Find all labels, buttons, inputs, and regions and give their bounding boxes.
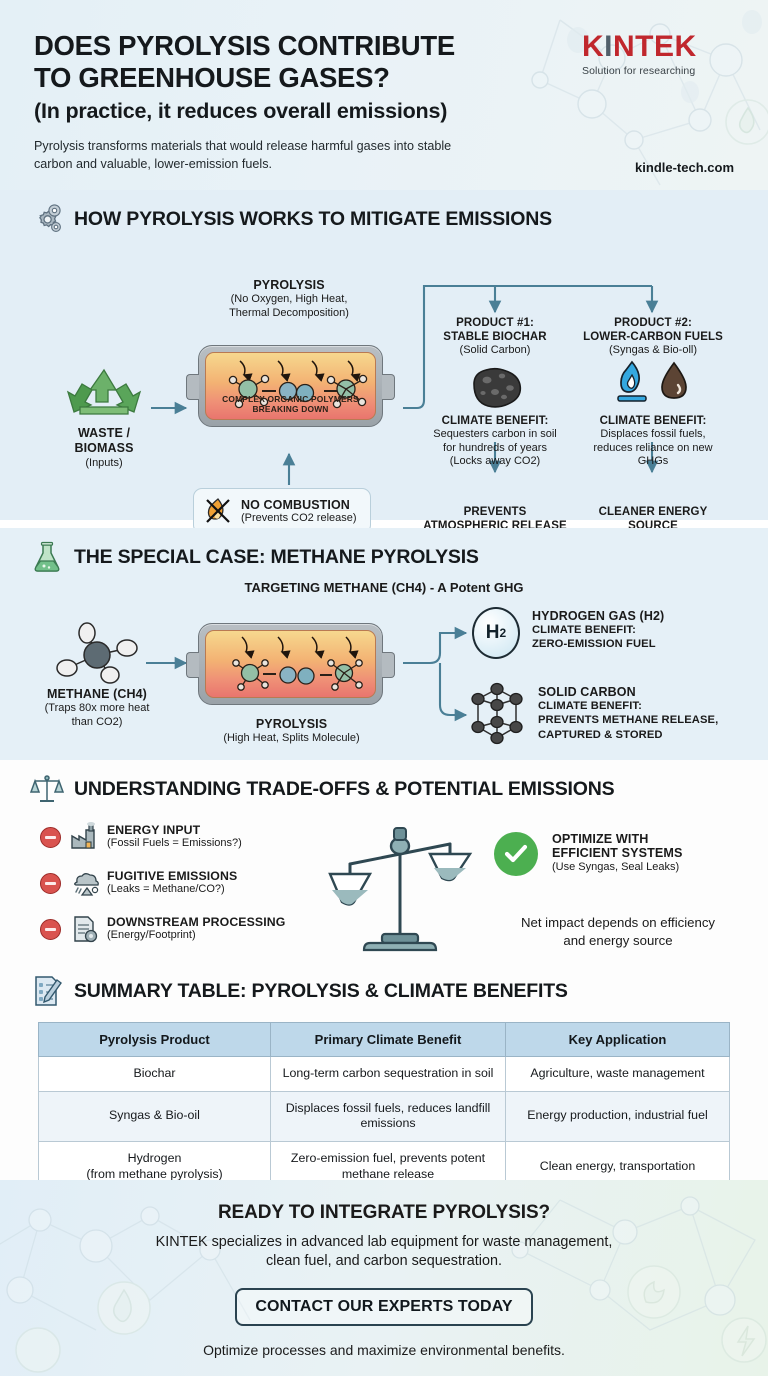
methane-reactor-inlet <box>186 652 199 678</box>
methane-sub-1: (Traps 80x more heat <box>42 702 152 716</box>
cell-application: Energy production, industrial fuel <box>506 1091 730 1141</box>
summary-table: Pyrolysis Product Primary Climate Benefi… <box>38 1022 730 1192</box>
scales-icon <box>30 772 64 806</box>
product-2-benefit-1: Displaces fossil fuels, <box>571 428 735 442</box>
footer-body: KINTEK specializes in advanced lab equip… <box>0 1233 768 1272</box>
logo-wordmark: KINTEK <box>582 32 734 62</box>
methane-label: METHANE (CH4) <box>42 687 152 702</box>
section2-title: THE SPECIAL CASE: METHANE PYROLYSIS <box>74 546 479 569</box>
no-combustion-sub: (Prevents CO2 release) <box>241 512 357 524</box>
table-row: Biochar Long-term carbon sequestration i… <box>39 1057 730 1092</box>
page-subtitle: (In practice, it reduces overall emissio… <box>34 99 734 124</box>
logo-letter-i: I <box>604 30 613 63</box>
section3-title: UNDERSTANDING TRADE-OFFS & POTENTIAL EMI… <box>74 778 614 801</box>
factory-icon <box>69 822 99 852</box>
tradeoff-3-title: DOWNSTREAM PROCESSING <box>107 915 285 929</box>
gears-icon <box>30 202 64 236</box>
process-title: PYROLYSIS <box>194 278 384 293</box>
section4-header: SUMMARY TABLE: PYROLYSIS & CLIMATE BENEF… <box>0 968 768 1012</box>
table-header-product: Pyrolysis Product <box>39 1023 271 1057</box>
minus-badge-icon <box>40 827 61 848</box>
section-how-pyrolysis-works: HOW PYROLYSIS WORKS TO MITIGATE EMISSION… <box>0 190 768 520</box>
balance-scale-icon <box>330 816 470 966</box>
tradeoff-2-sub: (Leaks = Methane/CO?) <box>107 883 237 896</box>
infographic-page: DOES PYROLYSIS CONTRIBUTE TO GREENHOUSE … <box>0 0 768 1376</box>
product-1-benefit-3: (Locks away CO2) <box>414 455 576 469</box>
reactor-inlet-nozzle <box>186 374 199 400</box>
cell-product: Syngas & Bio-oil <box>39 1091 271 1141</box>
solid-carbon-title: SOLID CARBON <box>538 685 718 699</box>
flask-icon <box>30 540 64 574</box>
product-2-sub: (Syngas & Bio-oll) <box>571 344 735 358</box>
section3-content: ENERGY INPUT (Fossil Fuels = Emissions?)… <box>0 810 768 975</box>
product-1-benefit-2: for hundreds of years <box>414 442 576 456</box>
pyrolysis-reactor: COMPLEX ORGANIC POLYMERS BREAKING DOWN <box>198 345 383 427</box>
solid-carbon-benefit-2: CAPTURED & STORED <box>538 728 718 742</box>
hero-header: DOES PYROLYSIS CONTRIBUTE TO GREENHOUSE … <box>0 0 768 190</box>
product-1-tag: PRODUCT #1: <box>414 316 576 330</box>
table-header-benefit: Primary Climate Benefit <box>271 1023 506 1057</box>
input-sublabel: (Inputs) <box>58 457 150 471</box>
reactor-chamber: COMPLEX ORGANIC POLYMERS BREAKING DOWN <box>205 352 376 420</box>
methane-process-title: PYROLYSIS <box>194 717 389 732</box>
net-impact-line-1: Net impact depends on efficiency <box>478 914 758 932</box>
product-2-block: PRODUCT #2: LOWER-CARBON FUELS (Syngas &… <box>571 316 735 533</box>
biochar-lump-icon <box>464 362 526 410</box>
optimize-sub: (Use Syngas, Seal Leaks) <box>552 861 682 874</box>
hydrogen-title: HYDROGEN GAS (H2) <box>532 609 664 623</box>
section4-title: SUMMARY TABLE: PYROLYSIS & CLIMATE BENEF… <box>74 980 568 1003</box>
product-2-outcome-1: CLEANER ENERGY <box>571 505 735 519</box>
optimize-title-2: EFFICIENT SYSTEMS <box>552 846 682 860</box>
cell-benefit: Long-term carbon sequestration in soil <box>271 1057 506 1092</box>
product-1-outcome-1: PREVENTS <box>414 505 576 519</box>
check-glyph-icon <box>503 841 529 867</box>
reactor-outlet-nozzle <box>382 374 395 400</box>
product-2-benefit-title: CLIMATE BENEFIT: <box>571 414 735 428</box>
balance-scale-illustration <box>330 816 470 966</box>
oil-droplet-icon <box>657 360 691 410</box>
tradeoff-1-sub: (Fossil Fuels = Emissions?) <box>107 837 242 850</box>
optimize-title-1: OPTIMIZE WITH <box>552 832 682 846</box>
footer-body-line-2: clean fuel, and carbon sequestration. <box>266 1253 502 1269</box>
methane-reactor-outlet <box>382 652 395 678</box>
tradeoff-2-title: FUGITIVE EMISSIONS <box>107 869 237 883</box>
net-impact-line-2: and energy source <box>478 932 758 950</box>
carbon-lattice-icon <box>468 683 526 745</box>
hydrogen-benefit-label: CLIMATE BENEFIT: <box>532 623 664 637</box>
section1-diagram: WASTE / BIOMASS (Inputs) PYROLYSIS (No O… <box>0 240 768 526</box>
section-tradeoffs: UNDERSTANDING TRADE-OFFS & POTENTIAL EMI… <box>0 760 768 968</box>
section2-header: THE SPECIAL CASE: METHANE PYROLYSIS <box>0 528 768 578</box>
reactor-label-line1: COMPLEX ORGANIC POLYMERS <box>222 394 359 404</box>
footer-cta-section: READY TO INTEGRATE PYROLYSIS? KINTEK spe… <box>0 1180 768 1376</box>
footer-closing-note: Optimize processes and maximize environm… <box>0 1342 768 1358</box>
reactor-label-line2: BREAKING DOWN <box>252 404 328 414</box>
methane-process-sub: (High Heat, Splits Molecule) <box>194 732 389 746</box>
minus-badge-icon <box>40 919 61 940</box>
net-impact-note: Net impact depends on efficiency and ene… <box>478 914 758 950</box>
section3-header: UNDERSTANDING TRADE-OFFS & POTENTIAL EMI… <box>0 760 768 810</box>
product-1-name: STABLE BIOCHAR <box>414 330 576 344</box>
cell-benefit: Displaces fossil fuels, reduces landfill… <box>271 1091 506 1141</box>
cell-product: Biochar <box>39 1057 271 1092</box>
tradeoff-energy-input: ENERGY INPUT (Fossil Fuels = Emissions?) <box>40 822 340 852</box>
solid-carbon-output: SOLID CARBON CLIMATE BENEFIT: PREVENTS M… <box>468 683 718 745</box>
optimize-callout: OPTIMIZE WITH EFFICIENT SYSTEMS (Use Syn… <box>494 832 682 876</box>
minus-badge-icon <box>40 873 61 894</box>
green-check-icon <box>494 832 538 876</box>
table-header-application: Key Application <box>506 1023 730 1057</box>
product-2-benefit-2: reduces reliance on new <box>571 442 735 456</box>
waste-biomass-input: WASTE / BIOMASS (Inputs) <box>58 364 150 470</box>
footer-body-line-1: KINTEK specializes in advanced lab equip… <box>156 1234 613 1250</box>
section-methane-pyrolysis: THE SPECIAL CASE: METHANE PYROLYSIS TARG… <box>0 528 768 760</box>
kintek-logo: KINTEK Solution for researching <box>582 32 734 77</box>
reactor-label: COMPLEX ORGANIC POLYMERS BREAKING DOWN <box>206 395 375 415</box>
methane-process-label: PYROLYSIS (High Heat, Splits Molecule) <box>194 717 389 746</box>
logo-letter-k: K <box>582 30 604 63</box>
methane-reactor <box>198 623 383 705</box>
h2-subscript: 2 <box>500 626 507 640</box>
methane-split-illustration <box>206 631 376 698</box>
h2-symbol: H <box>486 622 500 644</box>
website-url: kindle-tech.com <box>635 160 734 175</box>
document-list-icon <box>30 974 64 1008</box>
no-combustion-title: NO COMBUSTION <box>241 498 357 512</box>
product-2-benefit-3: GHGs <box>571 455 735 469</box>
h2-bubble-icon: H2 <box>472 607 520 659</box>
methane-reactor-chamber <box>205 630 376 698</box>
document-gear-icon <box>69 914 99 944</box>
section2-subheading: TARGETING METHANE (CH4) - A Potent GHG <box>0 580 768 595</box>
table-row: Syngas & Bio-oil Displaces fossil fuels,… <box>39 1091 730 1141</box>
title-line-2: TO GREENHOUSE GASES? <box>34 62 390 93</box>
title-line-1: DOES PYROLYSIS CONTRIBUTE <box>34 30 455 61</box>
product-1-sub: (Solid Carbon) <box>414 344 576 358</box>
hydrogen-output: H2 HYDROGEN GAS (H2) CLIMATE BENEFIT: ZE… <box>472 607 664 659</box>
logo-letters-ntek: NTEK <box>613 30 697 63</box>
process-sub-2: Thermal Decomposition) <box>194 307 384 321</box>
product-1-block: PRODUCT #1: STABLE BIOCHAR (Solid Carbon… <box>414 316 576 533</box>
product-1-benefit-title: CLIMATE BENEFIT: <box>414 414 576 428</box>
tradeoff-3-sub: (Energy/Footprint) <box>107 929 285 942</box>
pyrolysis-process-label: PYROLYSIS (No Oxygen, High Heat, Thermal… <box>194 278 384 321</box>
section1-title: HOW PYROLYSIS WORKS TO MITIGATE EMISSION… <box>74 208 552 231</box>
methane-sub-2: than CO2) <box>42 716 152 730</box>
product-2-name: LOWER-CARBON FUELS <box>571 330 735 344</box>
tradeoff-list: ENERGY INPUT (Fossil Fuels = Emissions?)… <box>40 822 340 944</box>
section2-diagram: METHANE (CH4) (Traps 80x more heat than … <box>0 595 768 783</box>
footer-heading: READY TO INTEGRATE PYROLYSIS? <box>0 1202 768 1224</box>
product-1-benefit-1: Sequesters carbon in soil <box>414 428 576 442</box>
flame-icon <box>615 360 649 410</box>
product-2-tag: PRODUCT #2: <box>571 316 735 330</box>
page-description: Pyrolysis transforms materials that woul… <box>34 138 464 174</box>
section-summary-table: SUMMARY TABLE: PYROLYSIS & CLIMATE BENEF… <box>0 968 768 1180</box>
tradeoff-downstream-processing: DOWNSTREAM PROCESSING (Energy/Footprint) <box>40 914 340 944</box>
no-fire-icon <box>203 496 233 526</box>
hydrogen-benefit-value: ZERO-EMISSION FUEL <box>532 637 664 651</box>
solid-carbon-benefit-1: PREVENTS METHANE RELEASE, <box>538 713 718 727</box>
leak-cloud-icon <box>69 868 99 898</box>
process-sub-1: (No Oxygen, High Heat, <box>194 293 384 307</box>
input-label: WASTE / BIOMASS <box>58 426 150 457</box>
tradeoff-1-title: ENERGY INPUT <box>107 823 242 837</box>
solid-carbon-benefit-label: CLIMATE BENEFIT: <box>538 699 718 713</box>
cell-application: Agriculture, waste management <box>506 1057 730 1092</box>
methane-input: METHANE (CH4) (Traps 80x more heat than … <box>42 623 152 730</box>
table-header-row: Pyrolysis Product Primary Climate Benefi… <box>39 1023 730 1057</box>
section1-header: HOW PYROLYSIS WORKS TO MITIGATE EMISSION… <box>0 190 768 240</box>
logo-tagline: Solution for researching <box>582 65 734 77</box>
contact-experts-button[interactable]: CONTACT OUR EXPERTS TODAY <box>235 1288 532 1326</box>
methane-molecule-icon <box>42 623 152 685</box>
recycle-icon <box>58 364 150 422</box>
tradeoff-fugitive-emissions: FUGITIVE EMISSIONS (Leaks = Methane/CO?) <box>40 868 340 898</box>
